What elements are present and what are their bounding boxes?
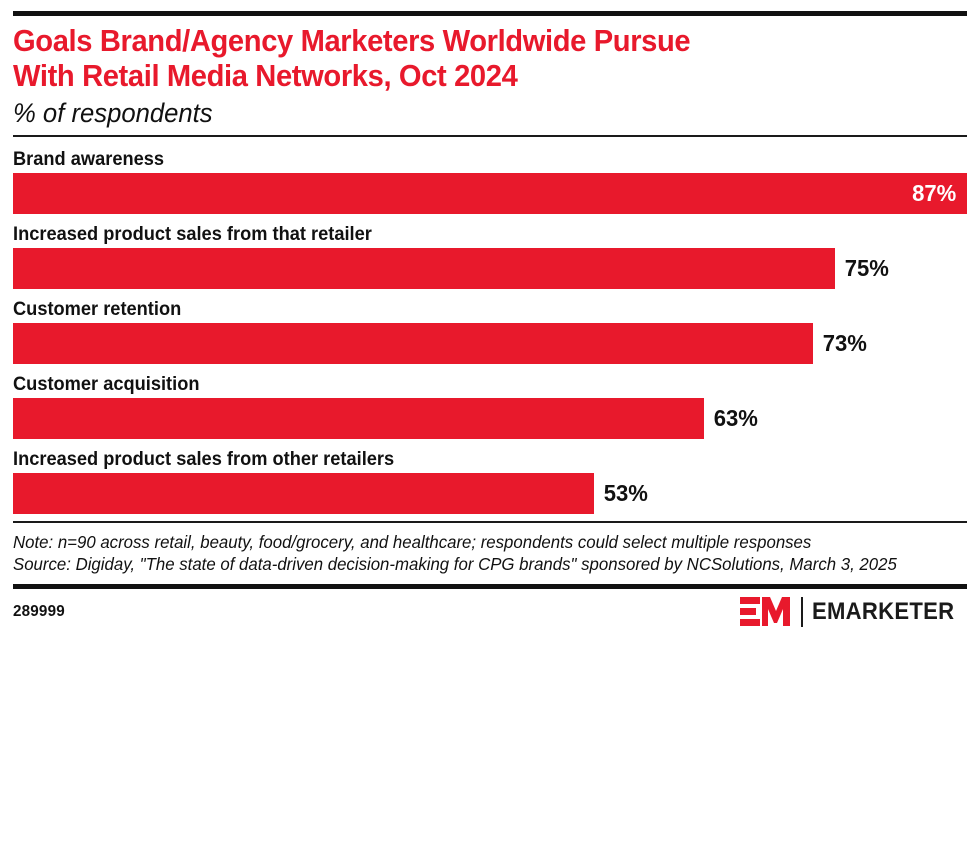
chart-card: Goals Brand/Agency Marketers Worldwide P… xyxy=(0,11,980,846)
source-text: Source: Digiday, "The state of data-driv… xyxy=(13,553,929,575)
bar-row: 75% xyxy=(13,248,967,289)
bar-group: Customer acquisition 63% xyxy=(13,374,967,439)
brand-wordmark: EMARKETER xyxy=(812,598,954,626)
page-title: Goals Brand/Agency Marketers Worldwide P… xyxy=(13,23,910,93)
emarketer-logo[interactable]: EMARKETER xyxy=(740,596,967,628)
bar-category-label: Customer acquisition xyxy=(13,374,929,395)
chart-footer: 289999 EMARKETER xyxy=(13,589,967,628)
bar-brand-awareness[interactable]: 87% xyxy=(13,173,967,214)
bar-group: Increased product sales from that retail… xyxy=(13,224,967,289)
bar-group: Increased product sales from other retai… xyxy=(13,449,967,514)
note-text: Note: n=90 across retail, beauty, food/g… xyxy=(13,531,929,553)
bar-value-label: 73% xyxy=(815,330,868,357)
bar-value-label: 63% xyxy=(705,405,758,432)
bar-category-label: Customer retention xyxy=(13,299,929,320)
bar-value-label: 53% xyxy=(595,480,648,507)
bar-chart-plot: Brand awareness 87% Increased product sa… xyxy=(13,137,967,514)
bar-group: Brand awareness 87% xyxy=(13,149,967,214)
bar-row: 73% xyxy=(13,323,967,364)
chart-id: 289999 xyxy=(13,603,65,621)
chart-notes: Note: n=90 across retail, beauty, food/g… xyxy=(13,523,967,575)
bar-category-label: Brand awareness xyxy=(13,149,929,170)
bar-customer-retention[interactable] xyxy=(13,323,813,364)
bar-row: 87% xyxy=(13,173,967,214)
bar-row: 53% xyxy=(13,473,967,514)
bar-category-label: Increased product sales from other retai… xyxy=(13,449,929,470)
bar-value-label: 75% xyxy=(837,255,890,282)
logo-divider xyxy=(801,597,803,627)
bar-increased-product-sales-other-retailers[interactable] xyxy=(13,473,594,514)
bar-customer-acquisition[interactable] xyxy=(13,398,704,439)
bar-row: 63% xyxy=(13,398,967,439)
em-monogram-icon xyxy=(740,596,792,628)
bar-category-label: Increased product sales from that retail… xyxy=(13,224,929,245)
chart-header: Goals Brand/Agency Marketers Worldwide P… xyxy=(13,16,967,128)
chart-subtitle: % of respondents xyxy=(13,98,919,128)
bar-increased-product-sales-that-retailer[interactable] xyxy=(13,248,835,289)
bar-group: Customer retention 73% xyxy=(13,299,967,364)
bar-value-label: 87% xyxy=(912,180,966,207)
